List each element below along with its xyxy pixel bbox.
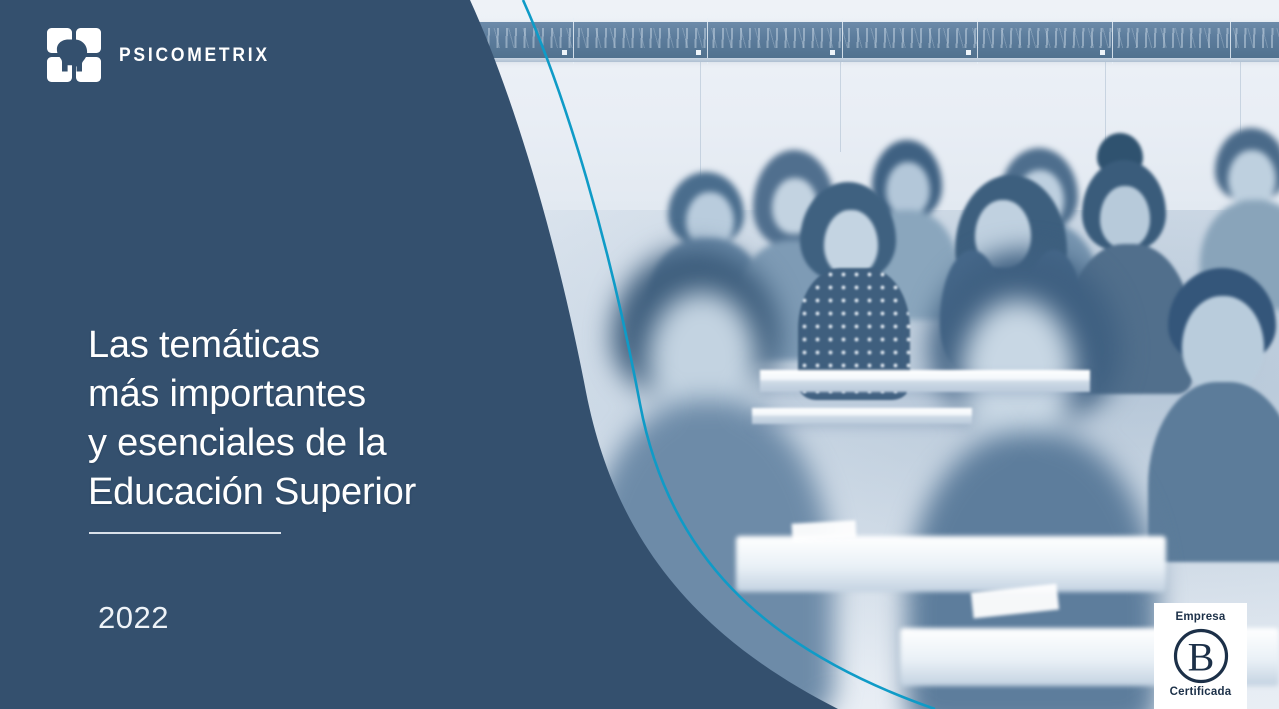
title-slide: PSICOMETRIX Las temáticas más importante… bbox=[0, 0, 1279, 709]
svg-text:B: B bbox=[1187, 634, 1214, 679]
year-label: 2022 bbox=[98, 599, 169, 638]
badge-bottom-label: Certificada bbox=[1170, 687, 1232, 699]
b-corp-circle-b-icon: B bbox=[1172, 627, 1230, 685]
badge-top-label: Empresa bbox=[1176, 612, 1226, 624]
page-title: Las temáticas más importantes y esencial… bbox=[88, 321, 416, 517]
brand-wordmark: PSICOMETRIX bbox=[119, 46, 270, 65]
title-divider-rule bbox=[89, 532, 281, 534]
psicometrix-head-in-square-icon bbox=[46, 27, 102, 83]
brand-logo[interactable]: PSICOMETRIX bbox=[46, 27, 283, 83]
b-corp-certified-badge: Empresa B Certificada bbox=[1154, 603, 1247, 709]
